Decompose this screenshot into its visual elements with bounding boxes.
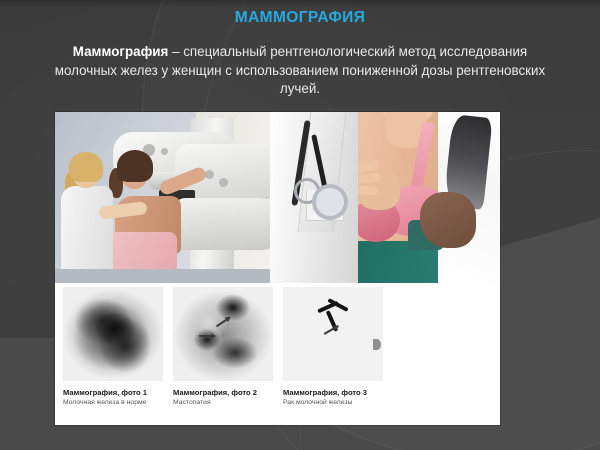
mammogram-item: Маммография, фото 1 Молочная железа в но… — [63, 287, 181, 406]
clinic-floor — [55, 269, 270, 283]
nipple-marker — [373, 339, 381, 350]
machine-lower-housing — [175, 198, 270, 250]
technician-hair — [69, 152, 103, 182]
photo-row — [55, 112, 500, 283]
doctor-hand — [420, 192, 476, 248]
mammogram-caption-title: Маммография, фото 2 — [173, 388, 291, 397]
mammogram-caption-subtitle: Рак молочной железы — [283, 399, 401, 406]
image-panel: Маммография, фото 1 Молочная железа в но… — [55, 112, 500, 425]
breast-exam-photo — [270, 112, 500, 283]
mammogram-caption-title: Маммография, фото 1 — [63, 388, 181, 397]
mammogram-normal-image — [63, 287, 163, 381]
mammogram-caption-subtitle: Мастопатия — [173, 399, 291, 406]
mammogram-caption-title: Маммография, фото 3 — [283, 388, 401, 397]
background-top-fade — [0, 0, 600, 8]
slide-title: МАММОГРАФИЯ — [0, 9, 600, 27]
mammogram-cancer-image — [283, 287, 383, 381]
mammogram-item: Маммография, фото 3 Рак молочной железы — [283, 287, 401, 406]
presentation-slide: МАММОГРАФИЯ Маммография – специальный ре… — [0, 0, 600, 450]
mammogram-caption-subtitle: Молочная железа в норме — [63, 399, 181, 406]
mammogram-mastopathy-image — [173, 287, 273, 381]
mammography-machine-photo — [55, 112, 270, 283]
lesion-arrow-icon — [199, 335, 215, 337]
stethoscope-chestpiece — [312, 184, 348, 220]
slide-body-lead-term: Маммография — [73, 44, 169, 59]
mammogram-item: Маммография, фото 2 Мастопатия — [173, 287, 291, 406]
mammogram-row: Маммография, фото 1 Молочная железа в но… — [55, 287, 500, 425]
slide-body-text: Маммография – специальный рентгенологиче… — [42, 43, 558, 99]
patient-hair — [117, 150, 153, 182]
